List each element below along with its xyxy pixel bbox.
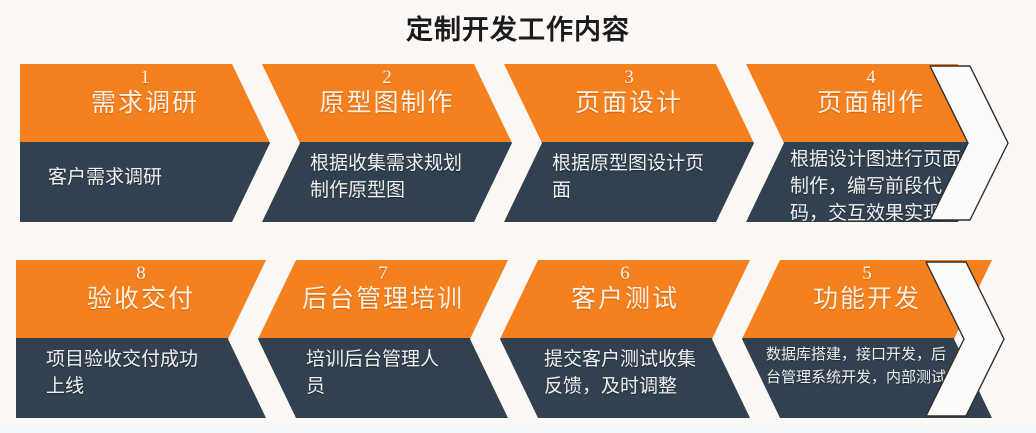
flow-step-2-body: 根据收集需求规划制作原型图 — [262, 142, 512, 222]
flow-step-2-desc: 根据收集需求规划制作原型图 — [310, 150, 466, 204]
flow-step-2-name: 原型图制作 — [319, 89, 454, 119]
flow-step-7-name: 后台管理培训 — [302, 285, 464, 315]
flow-step-6[interactable]: 6 客户测试 提交客户测试收集反馈，及时调整 — [500, 260, 750, 418]
flow-step-1-desc: 客户需求调研 — [48, 164, 162, 191]
flow-end-arrow-bottom — [924, 260, 1034, 418]
flow-step-1-body: 客户需求调研 — [20, 142, 270, 222]
flow-step-8-body: 项目验收交付成功上线 — [16, 338, 266, 418]
flow-step-6-name: 客户测试 — [571, 285, 679, 315]
flow-step-1-number: 1 — [140, 66, 150, 89]
flow-step-2-header: 2 原型图制作 — [262, 64, 512, 142]
flow-step-6-desc: 提交客户测试收集反馈，及时调整 — [544, 346, 710, 400]
flow-step-6-body: 提交客户测试收集反馈，及时调整 — [500, 338, 750, 418]
flow-step-7-desc: 培训后台管理人员 — [306, 346, 456, 400]
flow-step-8[interactable]: 8 验收交付 项目验收交付成功上线 — [16, 260, 266, 418]
flow-end-arrow-top — [928, 64, 1036, 222]
flow-step-8-name: 验收交付 — [87, 285, 195, 315]
flow-step-3-header: 3 页面设计 — [504, 64, 754, 142]
flow-step-3-body: 根据原型图设计页面 — [504, 142, 754, 222]
flow-step-7-body: 培训后台管理人员 — [258, 338, 508, 418]
flow-step-1[interactable]: 1 需求调研 客户需求调研 — [20, 64, 270, 222]
flow-step-3[interactable]: 3 页面设计 根据原型图设计页面 — [504, 64, 754, 222]
flow-step-1-header: 1 需求调研 — [20, 64, 270, 142]
flow-step-4-number: 4 — [866, 66, 876, 89]
flow-step-8-number: 8 — [136, 262, 146, 285]
flow-step-8-desc: 项目验收交付成功上线 — [46, 346, 202, 400]
flow-step-6-header: 6 客户测试 — [500, 260, 750, 338]
flow-step-3-name: 页面设计 — [575, 89, 683, 119]
flow-step-7-header: 7 后台管理培训 — [258, 260, 508, 338]
flow-step-2[interactable]: 2 原型图制作 根据收集需求规划制作原型图 — [262, 64, 512, 222]
flow-step-2-number: 2 — [382, 66, 392, 89]
flow-step-3-desc: 根据原型图设计页面 — [552, 150, 708, 204]
flow-step-7-number: 7 — [378, 262, 388, 285]
flow-step-6-number: 6 — [620, 262, 630, 285]
flow-row-top: 1 需求调研 客户需求调研 2 原型图制作 根据收集需求规划制作原型图 3 页面… — [0, 64, 1036, 222]
flow-step-8-header: 8 验收交付 — [16, 260, 266, 338]
flow-step-1-name: 需求调研 — [91, 89, 199, 119]
page-title: 定制开发工作内容 — [0, 8, 1036, 47]
flow-step-4-name: 页面制作 — [817, 89, 925, 119]
flow-step-3-number: 3 — [624, 66, 634, 89]
flow-row-bottom: 8 验收交付 项目验收交付成功上线 7 后台管理培训 培训后台管理人员 6 客户… — [0, 260, 1036, 418]
bottom-divider — [0, 424, 1036, 433]
flow-step-7[interactable]: 7 后台管理培训 培训后台管理人员 — [258, 260, 508, 418]
flow-step-5-name: 功能开发 — [813, 285, 921, 315]
flow-diagram: 定制开发工作内容 1 需求调研 客户需求调研 2 原型图制作 根据收集需求规划制… — [0, 0, 1036, 433]
flow-step-5-number: 5 — [862, 262, 872, 285]
